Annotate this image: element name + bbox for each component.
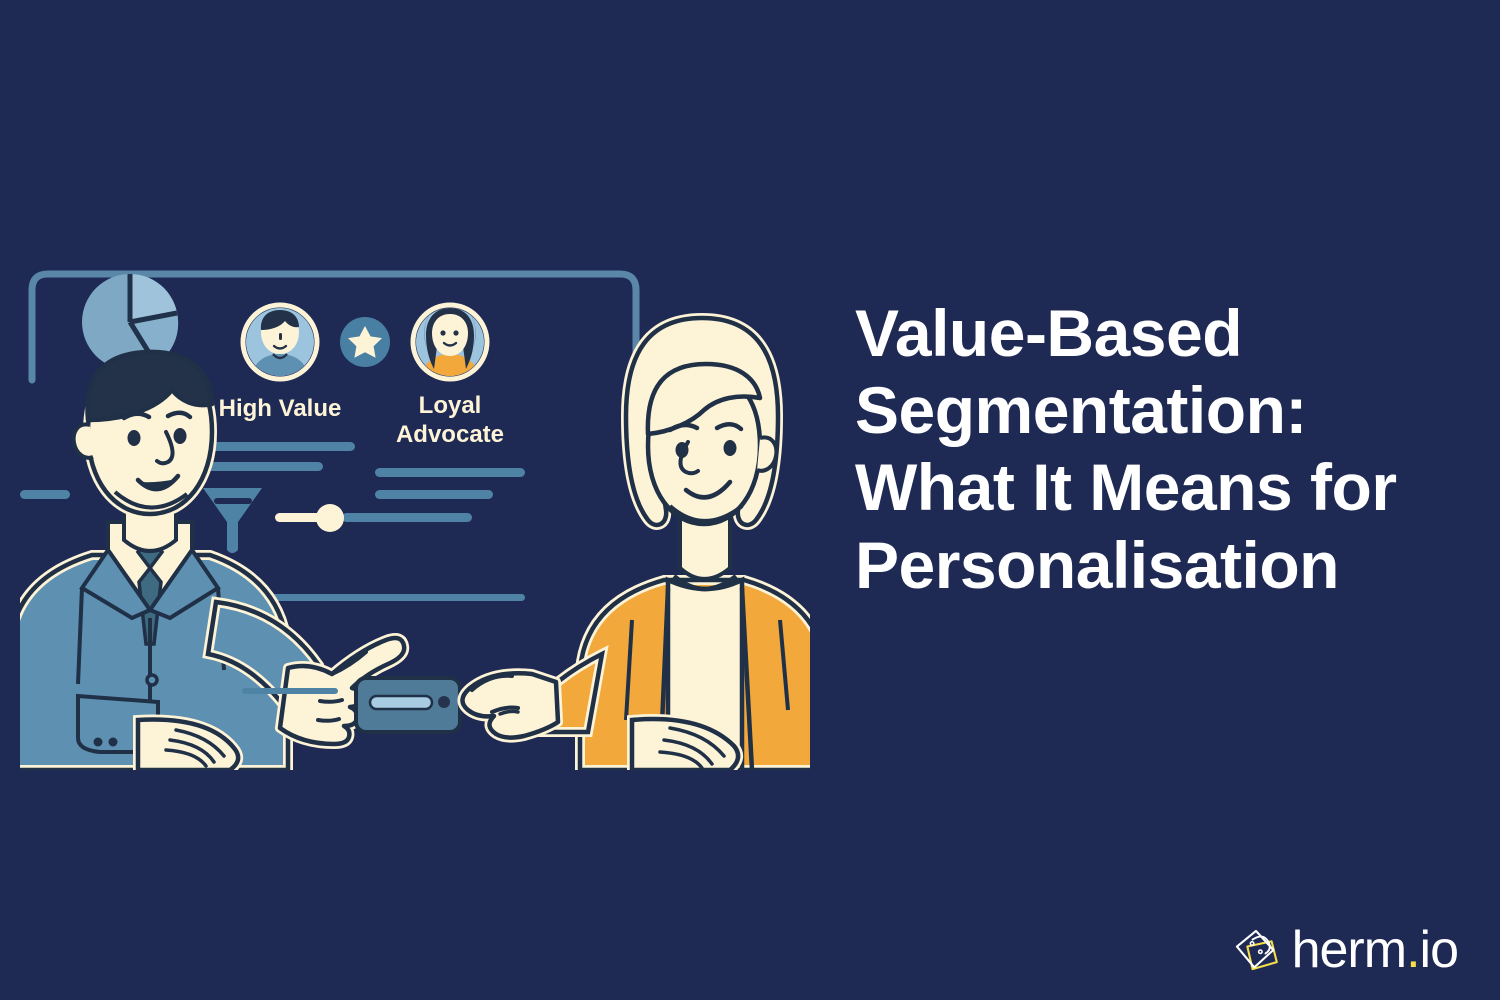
slider-handle [316, 504, 344, 532]
star-badge-icon [340, 317, 390, 367]
bottom-divider-left [242, 688, 338, 694]
page-title: Value-Based Segmentation: What It Means … [855, 295, 1475, 604]
card-reader-device[interactable] [356, 678, 460, 732]
text-bars-right [375, 468, 525, 499]
text-bar-far-left [20, 490, 70, 499]
banner-canvas: High Value [0, 0, 1500, 1000]
person-man-in-blue-suit [20, 352, 404, 770]
headline-line-2: Segmentation: [855, 372, 1475, 449]
headline-line-4: Personalisation [855, 527, 1475, 604]
text-bars-left [205, 442, 355, 471]
avatar-high-value [243, 305, 317, 379]
shopping-bag-icon [1230, 924, 1282, 976]
funnel-icon [203, 488, 262, 553]
headline-line-3: What It Means for [855, 449, 1475, 526]
person-woman-in-orange-cardigan [462, 318, 810, 770]
brand-logo[interactable]: herm.io [1230, 924, 1458, 976]
logo-dot: . [1406, 924, 1419, 976]
avatar-loyal-advocate [413, 305, 487, 379]
value-slider[interactable] [275, 504, 472, 532]
headline-line-1: Value-Based [855, 295, 1475, 372]
hero-illustration: High Value [20, 250, 810, 770]
logo-word-main: herm [1292, 924, 1406, 976]
segment-label-loyal-advocate-line2: Advocate [396, 421, 504, 448]
logo-wordmark: herm.io [1292, 924, 1458, 976]
segment-label-high-value: High Value [219, 395, 342, 422]
logo-word-tld: io [1420, 924, 1458, 976]
segment-label-loyal-advocate-line1: Loyal [419, 392, 482, 419]
